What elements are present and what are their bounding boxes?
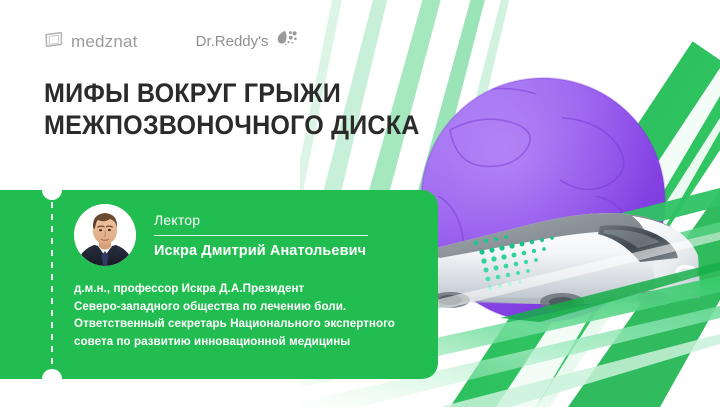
teardrop-dots-icon xyxy=(276,30,300,53)
title-line-1: МИФЫ ВОКРУГ ГРЫЖИ xyxy=(44,78,435,110)
bio-line: Ответственный секретарь Национального эк… xyxy=(74,315,420,333)
logo-medznat[interactable]: medznat xyxy=(44,31,138,53)
speaker-divider xyxy=(154,235,368,236)
logo-dr-reddys-text: Dr.Reddy's xyxy=(196,33,269,50)
slide-canvas: medznat Dr.Reddy's МИФЫ ВОКРУГ ГРЫЖИ МЕЖ xyxy=(0,0,720,407)
bio-line: д.м.н., профессор Искра Д.А.Президент xyxy=(74,280,420,298)
ticket-notch-top xyxy=(42,180,62,200)
ticket-notch-bottom xyxy=(42,369,62,389)
speaker-card: Лектор Искра Дмитрий Анатольевич д.м.н.,… xyxy=(0,190,438,379)
speaker-bio: д.м.н., профессор Искра Д.А.Президент Се… xyxy=(74,280,420,350)
speaker-header: Лектор Искра Дмитрий Анатольевич xyxy=(74,204,420,266)
avatar xyxy=(74,204,136,266)
bio-line: совета по развитию инновационной медицин… xyxy=(74,333,420,351)
speaker-role-label: Лектор xyxy=(154,213,420,228)
quadrilateral-card-icon xyxy=(44,31,64,53)
ticket-perforation xyxy=(51,202,53,367)
title-line-2: МЕЖПОЗВОНОЧНОГО ДИСКА xyxy=(44,110,435,142)
bio-line: Северо-западного общества по лечению бол… xyxy=(74,298,420,316)
page-title: МИФЫ ВОКРУГ ГРЫЖИ МЕЖПОЗВОНОЧНОГО ДИСКА xyxy=(44,78,435,142)
logo-bar: medznat Dr.Reddy's xyxy=(44,30,300,53)
logo-medznat-text: medznat xyxy=(71,32,138,52)
logo-dr-reddys[interactable]: Dr.Reddy's xyxy=(196,30,300,53)
avatar-portrait xyxy=(74,204,136,266)
speaker-meta: Лектор Искра Дмитрий Анатольевич xyxy=(154,211,420,258)
speaker-card-content: Лектор Искра Дмитрий Анатольевич д.м.н.,… xyxy=(74,204,420,369)
speaker-name: Искра Дмитрий Анатольевич xyxy=(154,243,420,259)
